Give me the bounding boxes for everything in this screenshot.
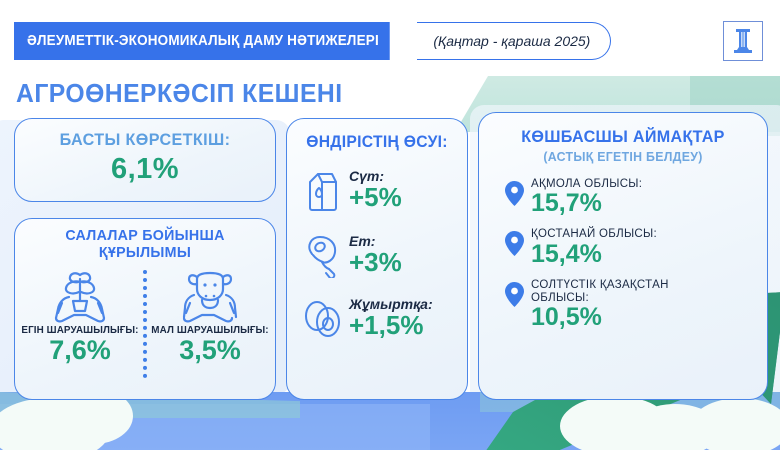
structure-name-livestock: МАЛ ШАРУАШЫЛЫҒЫ: xyxy=(149,324,271,336)
leader-region-row-north-kazakhstan: СОЛТҮСТІК ҚАЗАҚСТАН ОБЛЫСЫ: 10,5% xyxy=(479,279,767,331)
structure-divider xyxy=(143,270,147,378)
leader-regions-title: КӨШБАСШЫ АЙМАҚТАР xyxy=(486,113,760,147)
structure-column-crop: ЕГІН ШАРУАШЫЛЫҒЫ: 7,6% xyxy=(15,268,145,366)
leader-region-text-kostanay: ҚОСТАНАЙ ОБЛЫСЫ: 15,4% xyxy=(531,228,657,266)
production-text-meat: Ет: +3% xyxy=(349,233,402,276)
leader-region-value-kostanay: 15,4% xyxy=(531,241,657,267)
leader-region-text-akmola: АҚМОЛА ОБЛЫСЫ: 15,7% xyxy=(531,178,642,216)
map-pin-icon xyxy=(505,228,531,261)
production-growth-card: ӨНДІРІСТІҢ ӨСУІ: Сүт: +5% Е xyxy=(286,118,468,400)
header-period: (Қаңтар - қараша 2025) xyxy=(417,22,611,60)
map-pin-icon xyxy=(505,178,531,211)
production-row-milk: Сүт: +5% xyxy=(287,166,467,214)
production-text-eggs: Жұмыртқа: +1,5% xyxy=(349,296,433,339)
production-text-milk: Сүт: +5% xyxy=(349,168,402,211)
structure-value-crop: 7,6% xyxy=(15,335,145,366)
hands-plant-icon xyxy=(15,268,145,324)
leader-region-row-akmola: АҚМОЛА ОБЛЫСЫ: 15,7% xyxy=(479,178,767,216)
leader-region-value-north-kazakhstan: 10,5% xyxy=(531,304,669,330)
monument-icon xyxy=(730,27,756,55)
leader-region-text-north-kazakhstan: СОЛТҮСТІК ҚАЗАҚСТАН ОБЛЫСЫ: 10,5% xyxy=(531,279,669,331)
baiterek-monument-logo xyxy=(723,21,763,61)
structure-title: САЛАЛАР БОЙЫНША ҚҰРЫЛЫМЫ xyxy=(22,219,269,262)
structure-title-line1: САЛАЛАР БОЙЫНША xyxy=(22,228,269,245)
main-indicator-label: БАСТЫ КӨРСЕТКІШ: xyxy=(22,119,269,150)
hands-cow-icon xyxy=(145,268,275,324)
structure-columns: ЕГІН ШАРУАШЫЛЫҒЫ: 7,6% xyxy=(15,268,275,366)
eggs-icon xyxy=(297,296,349,340)
production-value-eggs: +1,5% xyxy=(349,312,433,339)
leader-regions-card: КӨШБАСШЫ АЙМАҚТАР (АСТЫҚ ЕГЕТІН БЕЛДЕУ) … xyxy=(478,112,768,400)
structure-value-livestock: 3,5% xyxy=(145,335,275,366)
production-value-milk: +5% xyxy=(349,184,402,211)
leader-region-name-north-kazakhstan-line1: СОЛТҮСТІК ҚАЗАҚСТАН xyxy=(531,279,669,292)
production-row-eggs: Жұмыртқа: +1,5% xyxy=(287,296,467,340)
leader-region-value-akmola: 15,7% xyxy=(531,190,642,216)
main-indicator-card: БАСТЫ КӨРСЕТКІШ: 6,1% xyxy=(14,118,276,202)
structure-title-line2: ҚҰРЫЛЫМЫ xyxy=(22,245,269,262)
leader-region-row-kostanay: ҚОСТАНАЙ ОБЛЫСЫ: 15,4% xyxy=(479,228,767,266)
structure-card: САЛАЛАР БОЙЫНША ҚҰРЫЛЫМЫ ЕГІН xyxy=(14,218,276,400)
leader-regions-subtitle: (АСТЫҚ ЕГЕТІН БЕЛДЕУ) xyxy=(486,149,760,164)
production-title: ӨНДІРІСТІҢ ӨСУІ: xyxy=(292,119,463,152)
header-banner: ӘЛЕУМЕТТІК-ЭКОНОМИКАЛЫҚ ДАМУ НӘТИЖЕЛЕРІ … xyxy=(14,22,611,60)
milk-carton-icon xyxy=(297,166,349,214)
main-indicator-value: 6,1% xyxy=(15,153,275,186)
meat-ham-icon xyxy=(297,232,349,278)
structure-name-crop: ЕГІН ШАРУАШЫЛЫҒЫ: xyxy=(19,324,141,336)
production-value-meat: +3% xyxy=(349,249,402,276)
cloud-shape xyxy=(690,398,780,450)
map-pin-icon xyxy=(505,279,531,312)
production-row-meat: Ет: +3% xyxy=(287,232,467,278)
header-title: ӘЛЕУМЕТТІК-ЭКОНОМИКАЛЫҚ ДАМУ НӘТИЖЕЛЕРІ xyxy=(14,22,390,60)
page-title: АГРОӨНЕРКӘСІП КЕШЕНІ xyxy=(16,78,343,109)
structure-column-livestock: МАЛ ШАРУАШЫЛЫҒЫ: 3,5% xyxy=(145,268,275,366)
